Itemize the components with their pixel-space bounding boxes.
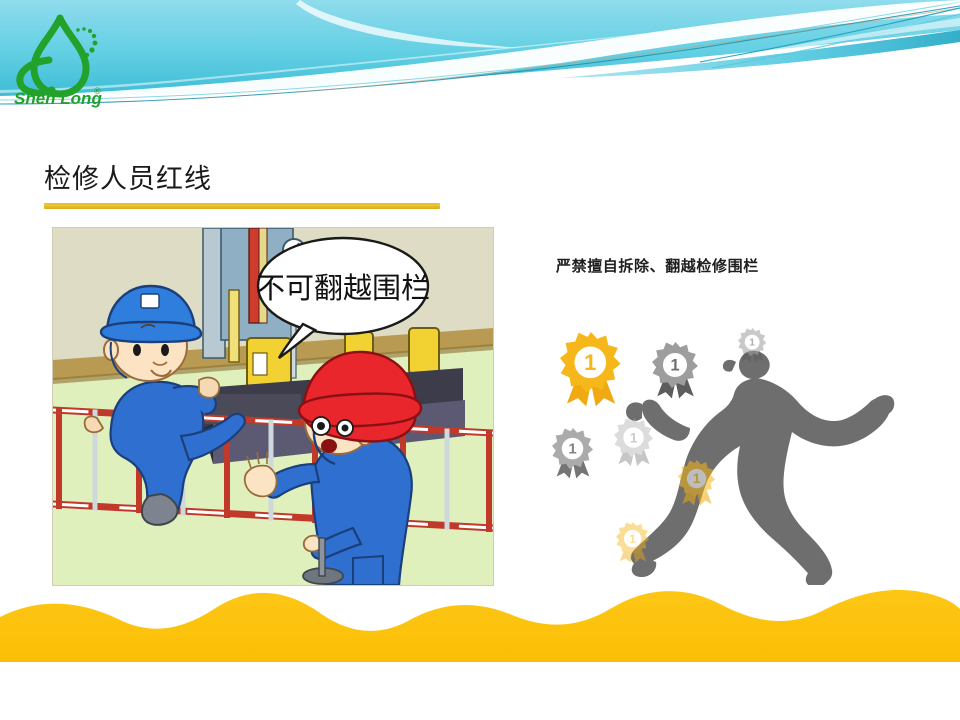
slide-canvas: Shen Long ® 检修人员红线 xyxy=(0,0,960,720)
green-water-drop-leaf-icon: Shen Long ® xyxy=(8,12,112,108)
cartoon-scene: 不可翻越围栏 xyxy=(53,228,493,585)
safety-caption: 严禁擅自拆除、翻越检修围栏 xyxy=(556,255,759,276)
medal-badge: 1 xyxy=(614,418,653,466)
medal-rank-label: 1 xyxy=(749,338,755,349)
brand-wordmark: Shen Long xyxy=(14,89,102,108)
medal-rank-label: 1 xyxy=(693,471,701,486)
title-underline-rule xyxy=(44,203,440,209)
medal-rank-label: 1 xyxy=(629,532,636,546)
speech-bubble-text: 不可翻越围栏 xyxy=(256,271,430,305)
medal-badge: 1 xyxy=(560,332,621,406)
medal-rank-label: 1 xyxy=(630,430,638,446)
medal-rank-label: 1 xyxy=(670,356,679,375)
medals-and-runner-graphic: 1111111 xyxy=(530,320,930,585)
footer-wave-band xyxy=(0,575,960,665)
medal-badge: 1 xyxy=(552,428,593,478)
brand-logo: Shen Long ® xyxy=(8,12,112,108)
medal-badge: 1 xyxy=(652,342,698,398)
gold-wave-band xyxy=(0,575,960,665)
bottom-white-margin xyxy=(0,662,960,720)
trademark-symbol: ® xyxy=(94,86,101,96)
cyan-wave-banner xyxy=(0,0,960,122)
medal-rank-label: 1 xyxy=(584,350,596,375)
header-wave-banner xyxy=(0,0,960,122)
safety-cartoon-illustration: 不可翻越围栏 xyxy=(53,228,493,585)
page-title: 检修人员红线 xyxy=(44,157,212,196)
medal-rank-label: 1 xyxy=(568,441,576,458)
achievement-graphic: 1111111 xyxy=(530,320,930,585)
